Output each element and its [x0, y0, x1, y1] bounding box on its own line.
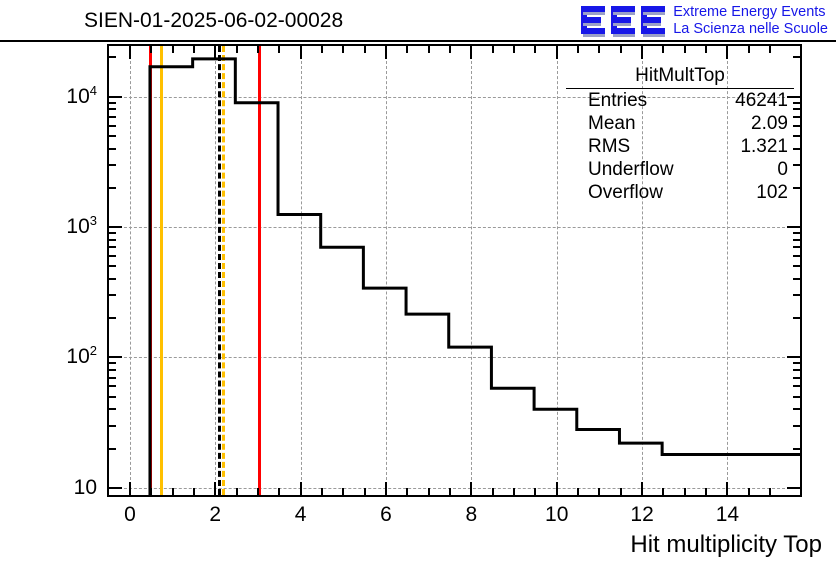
x-minor-tick	[278, 488, 280, 495]
stats-row-key: Overflow	[588, 181, 663, 204]
x-minor-tick	[748, 46, 750, 53]
y-major-tick	[787, 226, 800, 228]
y-minor-tick	[793, 187, 800, 189]
x-tick-label: 12	[612, 504, 672, 525]
x-major-tick	[726, 482, 728, 495]
x-tick-label: 2	[185, 504, 245, 525]
x-minor-tick	[321, 46, 323, 53]
x-minor-tick	[364, 46, 366, 53]
stats-row-key: Underflow	[588, 158, 674, 181]
y-minor-tick	[109, 362, 116, 364]
y-minor-tick	[793, 294, 800, 296]
x-minor-tick	[428, 488, 430, 495]
y-minor-tick	[793, 408, 800, 410]
eee-logo: Extreme Energy Events La Scienza nelle S…	[581, 2, 828, 40]
x-major-tick	[726, 46, 728, 59]
x-major-tick	[641, 482, 643, 495]
y-minor-tick	[109, 317, 116, 319]
stats-row-value: 2.09	[751, 112, 788, 135]
y-minor-tick	[793, 102, 800, 104]
x-minor-tick	[705, 46, 707, 53]
x-minor-tick	[321, 488, 323, 495]
x-minor-tick	[342, 488, 344, 495]
y-minor-tick	[109, 255, 116, 257]
stats-row-value: 46241	[735, 89, 788, 112]
x-minor-tick	[534, 488, 536, 495]
y-minor-tick	[109, 116, 116, 118]
x-minor-tick	[172, 488, 174, 495]
stats-row: Overflow102	[566, 181, 794, 204]
x-minor-tick	[193, 46, 195, 53]
x-axis-title: Hit multiplicity Top	[630, 531, 822, 559]
y-minor-tick	[793, 317, 800, 319]
y-major-tick	[109, 487, 122, 489]
y-minor-tick	[793, 108, 800, 110]
y-minor-tick	[793, 377, 800, 379]
x-major-tick	[129, 482, 131, 495]
page-title: SIEN-01-2025-06-02-00028	[84, 9, 343, 33]
x-minor-tick	[364, 488, 366, 495]
x-major-tick	[214, 482, 216, 495]
y-minor-tick	[109, 246, 116, 248]
stats-row: Underflow0	[566, 158, 794, 181]
x-major-tick	[556, 482, 558, 495]
x-major-tick	[470, 482, 472, 495]
x-minor-tick	[193, 488, 195, 495]
y-major-tick	[109, 356, 122, 358]
y-minor-tick	[109, 102, 116, 104]
y-minor-tick	[109, 135, 116, 137]
y-minor-tick	[109, 164, 116, 166]
x-minor-tick	[428, 46, 430, 53]
y-tick-label: 10	[0, 477, 97, 498]
stats-row: RMS1.321	[566, 135, 794, 158]
stats-row-value: 0	[777, 158, 788, 181]
x-minor-tick	[748, 488, 750, 495]
x-minor-tick	[577, 46, 579, 53]
x-minor-tick	[577, 488, 579, 495]
y-minor-tick	[793, 116, 800, 118]
x-minor-tick	[684, 488, 686, 495]
eee-logo-line1: Extreme Energy Events	[673, 4, 828, 21]
y-minor-tick	[109, 108, 116, 110]
x-minor-tick	[492, 488, 494, 495]
y-tick-label: 102	[0, 346, 97, 367]
stats-box: HitMultTop Entries46241Mean2.09RMS1.321U…	[566, 64, 794, 204]
x-minor-tick	[278, 46, 280, 53]
y-major-tick	[787, 356, 800, 358]
y-minor-tick	[793, 125, 800, 127]
x-minor-tick	[769, 488, 771, 495]
y-minor-tick	[109, 239, 116, 241]
x-minor-tick	[449, 488, 451, 495]
stats-row-value: 102	[756, 181, 788, 204]
x-minor-tick	[342, 46, 344, 53]
x-major-tick	[556, 46, 558, 59]
y-minor-tick	[793, 265, 800, 267]
y-minor-tick	[109, 425, 116, 427]
y-minor-tick	[793, 255, 800, 257]
stats-row-key: Mean	[588, 112, 636, 135]
y-tick-label: 104	[0, 86, 97, 107]
y-minor-tick	[793, 56, 800, 58]
y-minor-tick	[109, 232, 116, 234]
stats-row: Entries46241	[566, 89, 794, 112]
stats-rows: Entries46241Mean2.09RMS1.321Underflow0Ov…	[566, 89, 794, 204]
x-major-tick	[385, 46, 387, 59]
x-minor-tick	[769, 46, 771, 53]
x-minor-tick	[598, 488, 600, 495]
eee-logo-mark-icon	[581, 4, 665, 38]
x-minor-tick	[150, 46, 152, 53]
y-minor-tick	[109, 148, 116, 150]
y-minor-tick	[793, 362, 800, 364]
x-minor-tick	[662, 46, 664, 53]
x-minor-tick	[684, 46, 686, 53]
x-minor-tick	[620, 488, 622, 495]
y-minor-tick	[109, 187, 116, 189]
x-minor-tick	[257, 46, 259, 53]
x-minor-tick	[150, 488, 152, 495]
stats-row-key: RMS	[588, 135, 630, 158]
y-tick-label: 103	[0, 216, 97, 237]
y-minor-tick	[793, 232, 800, 234]
stats-row-value: 1.321	[740, 135, 788, 158]
histogram-page: SIEN-01-2025-06-02-00028 Extreme Energy …	[0, 0, 836, 572]
x-minor-tick	[406, 46, 408, 53]
stats-row: Mean2.09	[566, 112, 794, 135]
x-tick-label: 10	[527, 504, 587, 525]
x-minor-tick	[620, 46, 622, 53]
y-minor-tick	[793, 448, 800, 450]
x-tick-label: 6	[356, 504, 416, 525]
x-major-tick	[300, 46, 302, 59]
y-minor-tick	[109, 125, 116, 127]
x-major-tick	[129, 46, 131, 59]
y-minor-tick	[793, 425, 800, 427]
x-minor-tick	[236, 488, 238, 495]
x-minor-tick	[492, 46, 494, 53]
x-minor-tick	[513, 46, 515, 53]
stats-row-key: Entries	[588, 89, 647, 112]
y-major-tick	[109, 226, 122, 228]
y-minor-tick	[793, 164, 800, 166]
y-minor-tick	[109, 294, 116, 296]
x-major-tick	[641, 46, 643, 59]
y-minor-tick	[793, 396, 800, 398]
x-minor-tick	[172, 46, 174, 53]
y-minor-tick	[109, 448, 116, 450]
x-minor-tick	[257, 488, 259, 495]
x-tick-label: 14	[697, 504, 757, 525]
y-minor-tick	[109, 278, 116, 280]
y-minor-tick	[793, 135, 800, 137]
x-minor-tick	[406, 488, 408, 495]
header-divider	[0, 40, 836, 42]
y-minor-tick	[793, 239, 800, 241]
y-minor-tick	[109, 56, 116, 58]
x-major-tick	[385, 482, 387, 495]
x-major-tick	[470, 46, 472, 59]
eee-logo-line2: La Scienza nelle Scuole	[673, 21, 828, 38]
y-minor-tick	[793, 369, 800, 371]
y-major-tick	[109, 96, 122, 98]
x-minor-tick	[598, 46, 600, 53]
y-minor-tick	[793, 278, 800, 280]
x-tick-label: 4	[271, 504, 331, 525]
y-minor-tick	[109, 377, 116, 379]
x-tick-label: 0	[100, 504, 160, 525]
y-minor-tick	[109, 408, 116, 410]
x-tick-label: 8	[441, 504, 501, 525]
x-minor-tick	[513, 488, 515, 495]
x-major-tick	[214, 46, 216, 59]
x-minor-tick	[662, 488, 664, 495]
x-minor-tick	[236, 46, 238, 53]
y-minor-tick	[793, 246, 800, 248]
y-major-tick	[787, 487, 800, 489]
y-minor-tick	[793, 148, 800, 150]
x-minor-tick	[449, 46, 451, 53]
eee-logo-text: Extreme Energy Events La Scienza nelle S…	[673, 4, 828, 38]
y-minor-tick	[793, 385, 800, 387]
stats-title: HitMultTop	[566, 64, 794, 89]
y-minor-tick	[109, 396, 116, 398]
y-minor-tick	[109, 369, 116, 371]
x-minor-tick	[534, 46, 536, 53]
y-minor-tick	[109, 265, 116, 267]
y-minor-tick	[109, 385, 116, 387]
x-major-tick	[300, 482, 302, 495]
x-minor-tick	[705, 488, 707, 495]
